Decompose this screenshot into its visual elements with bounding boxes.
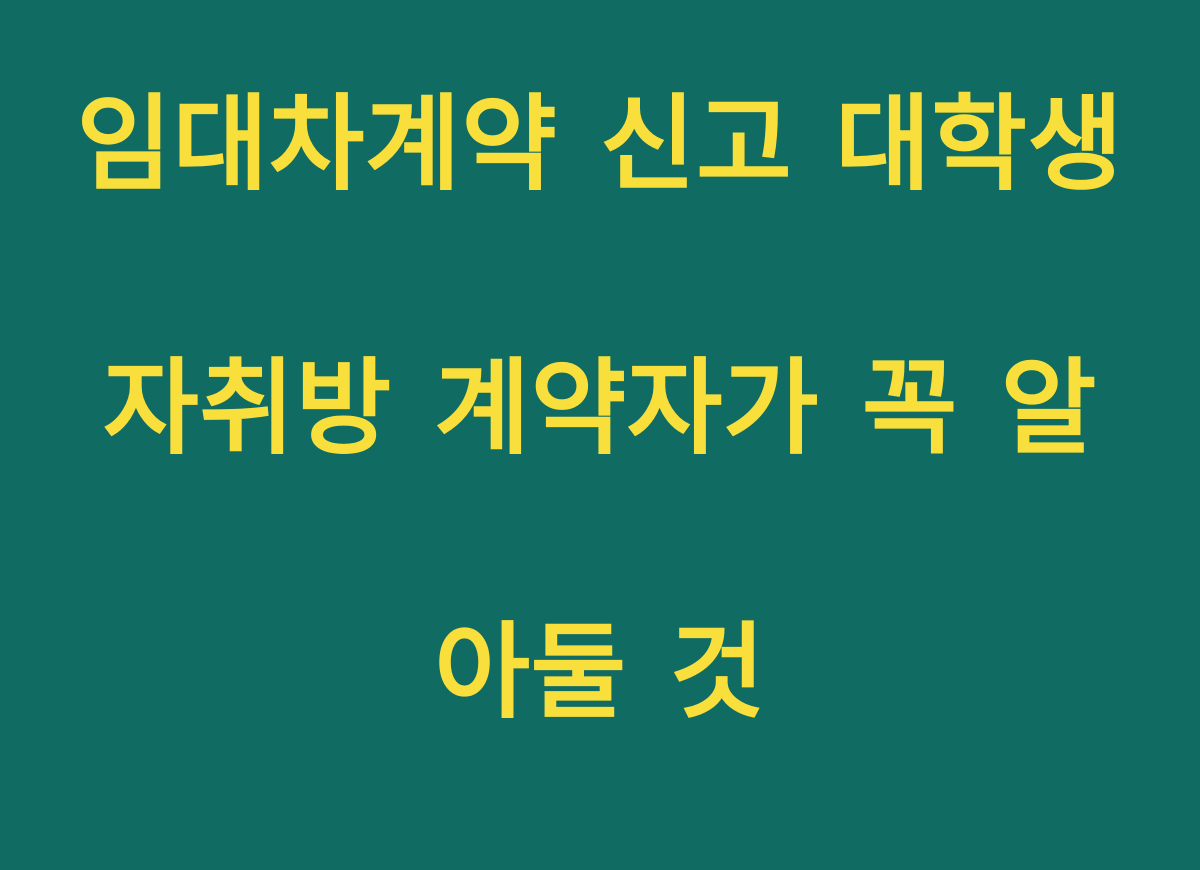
page-title: 임대차계약 신고 대학생 자취방 계약자가 꼭 알 아둘 것	[70, 0, 1130, 870]
banner-canvas: 임대차계약 신고 대학생 자취방 계약자가 꼭 알 아둘 것	[0, 0, 1200, 800]
headline-line-2: 자취방 계약자가 꼭 알	[70, 342, 1130, 474]
headline-line-1: 임대차계약 신고 대학생	[70, 78, 1130, 210]
headline-line-3: 아둘 것	[70, 606, 1130, 738]
